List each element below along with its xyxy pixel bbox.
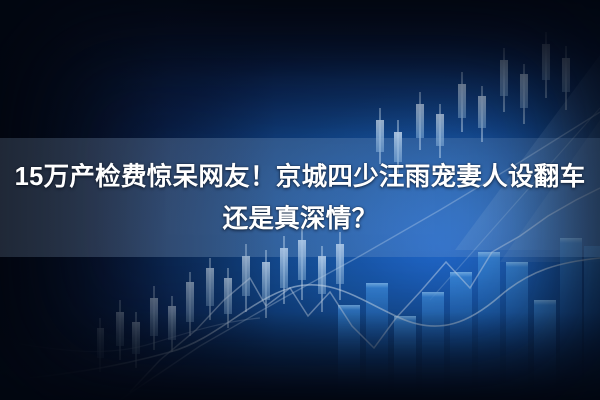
headline-line-2: 还是真深情？ [0,198,600,240]
headline-line-1: 15万产检费惊呆网友！京城四少汪雨宠妻人设翻车 [0,156,600,198]
headline-band: 15万产检费惊呆网友！京城四少汪雨宠妻人设翻车 还是真深情？ [0,138,600,257]
thumbnail-canvas: 15万产检费惊呆网友！京城四少汪雨宠妻人设翻车 还是真深情？ [0,0,600,400]
headline-text: 15万产检费惊呆网友！京城四少汪雨宠妻人设翻车 还是真深情？ [0,156,600,240]
